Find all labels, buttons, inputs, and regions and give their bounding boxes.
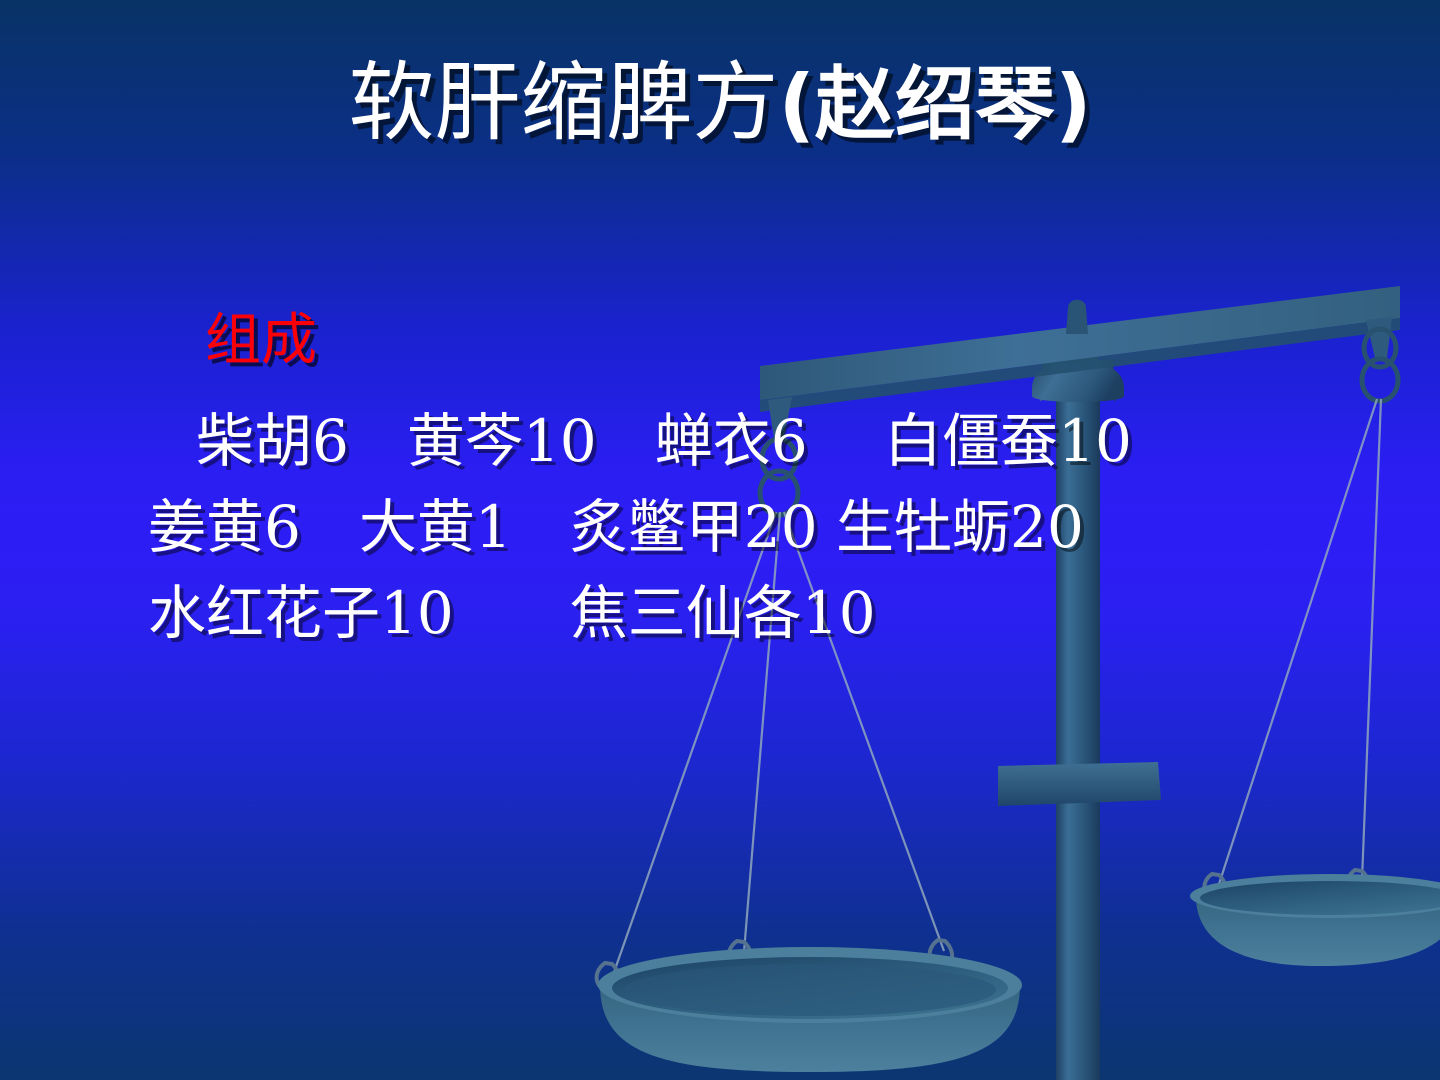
section-heading-composition: 组成: [205, 313, 317, 369]
slide: 软肝缩脾方(赵绍琴) 组成 柴胡6 黄芩10 蝉衣6 白僵蚕10 姜黄6 大黄1…: [0, 0, 1440, 1080]
title-main-text: 软肝缩脾方: [348, 53, 778, 153]
page-title: 软肝缩脾方(赵绍琴): [0, 58, 1440, 148]
text-layer: 软肝缩脾方(赵绍琴) 组成 柴胡6 黄芩10 蝉衣6 白僵蚕10 姜黄6 大黄1…: [0, 0, 1440, 1080]
title-paren-close: ): [1055, 58, 1092, 151]
ingredient-line: 柴胡6 黄芩10 蝉衣6 白僵蚕10: [0, 398, 1440, 484]
title-author-name: 赵绍琴: [815, 58, 1055, 151]
ingredient-line: 姜黄6 大黄1 炙鳖甲20 生牡蛎20: [0, 484, 1440, 570]
ingredient-list: 柴胡6 黄芩10 蝉衣6 白僵蚕10 姜黄6 大黄1 炙鳖甲20 生牡蛎20 水…: [0, 398, 1440, 656]
title-paren-open: (: [778, 58, 815, 151]
ingredient-line: 水红花子10 焦三仙各10: [0, 570, 1440, 656]
